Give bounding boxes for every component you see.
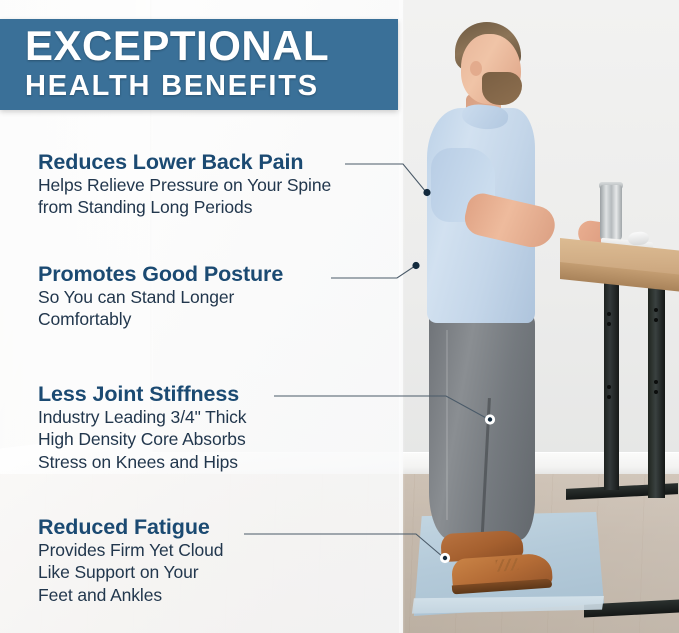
benefit-body-line: Feet and Ankles xyxy=(38,585,223,606)
benefit-block-less-joint-stiffness: Less Joint Stiffness Industry Leading 3/… xyxy=(38,382,246,473)
benefit-body-line: from Standing Long Periods xyxy=(38,197,331,218)
benefit-title: Less Joint Stiffness xyxy=(38,382,246,406)
beard xyxy=(482,72,522,105)
benefit-block-reduced-fatigue: Reduced Fatigue Provides Firm Yet Cloud … xyxy=(38,515,223,606)
benefit-body-line: Like Support on Your xyxy=(38,562,223,583)
benefit-body-line: Helps Relieve Pressure on Your Spine xyxy=(38,175,331,196)
benefit-title: Promotes Good Posture xyxy=(38,262,283,286)
benefit-body-line: So You can Stand Longer xyxy=(38,287,283,308)
benefit-body-line: Stress on Knees and Hips xyxy=(38,452,246,473)
banner-title-primary: EXCEPTIONAL xyxy=(25,25,398,67)
benefit-body-line: Provides Firm Yet Cloud xyxy=(38,540,223,561)
shoe-laces xyxy=(496,558,519,572)
stainless-tumbler xyxy=(600,185,622,241)
benefit-body-line: High Density Core Absorbs xyxy=(38,429,246,450)
benefit-title: Reduces Lower Back Pain xyxy=(38,150,331,174)
header-banner: EXCEPTIONAL HEALTH BENEFITS xyxy=(0,19,398,110)
benefit-block-reduces-lower-back-pain: Reduces Lower Back Pain Helps Relieve Pr… xyxy=(38,150,331,219)
banner-title-secondary: HEALTH BENEFITS xyxy=(25,69,398,103)
panel-seam xyxy=(399,0,405,633)
benefit-body-line: Industry Leading 3/4" Thick xyxy=(38,407,246,428)
ear xyxy=(470,61,482,76)
benefit-block-promotes-good-posture: Promotes Good Posture So You can Stand L… xyxy=(38,262,283,331)
benefit-body-line: Comfortably xyxy=(38,309,283,330)
benefit-title: Reduced Fatigue xyxy=(38,515,223,539)
pants-crease xyxy=(446,330,448,520)
infographic-stage: EXCEPTIONAL HEALTH BENEFITS Reduces Lowe… xyxy=(0,0,679,633)
